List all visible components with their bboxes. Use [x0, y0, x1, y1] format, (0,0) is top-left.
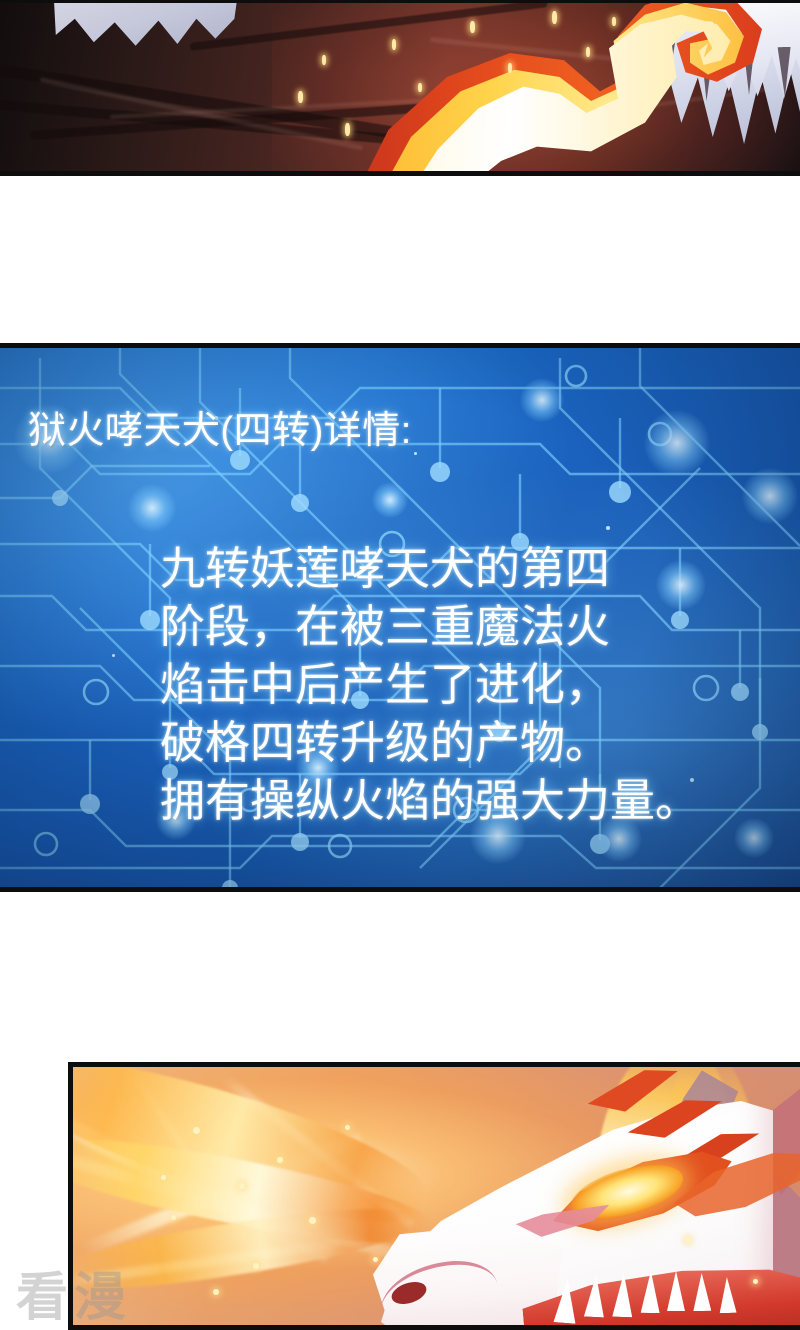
fire-spark	[309, 1217, 316, 1224]
ember-spark	[470, 21, 475, 33]
skill-detail-title: 狱火哮天犬(四转)详情:	[28, 408, 412, 454]
fire-spark	[753, 1279, 758, 1284]
fire-spark	[171, 1215, 176, 1220]
ember-spark	[612, 17, 616, 26]
panel-top-dark-ground	[0, 0, 800, 176]
fire-wolf-head	[373, 1073, 800, 1330]
ember-spark	[322, 55, 326, 65]
flame-ribbon	[330, 0, 780, 176]
ember-spark	[586, 47, 590, 57]
fire-spark	[685, 1237, 691, 1243]
fire-spark	[213, 1289, 219, 1295]
fire-spark	[193, 1127, 200, 1134]
flame-marking	[586, 1068, 681, 1114]
fire-spark	[239, 1183, 245, 1189]
description-line: 拥有操纵火焰的强大力量。	[160, 772, 660, 830]
fire-spark	[253, 1263, 259, 1269]
description-line: 九转妖莲哮天犬的第四	[160, 540, 660, 598]
description-line: 破格四转升级的产物。	[160, 714, 660, 772]
fire-spark	[277, 1157, 283, 1163]
skill-description-text: 九转妖莲哮天犬的第四 阶段，在被三重魔法火 焰击中后产生了进化， 破格四转升级的…	[160, 540, 660, 830]
description-line: 阶段，在被三重魔法火	[160, 598, 660, 656]
ember-spark	[418, 83, 422, 92]
fire-spark	[345, 1125, 350, 1130]
description-line: 焰击中后产生了进化，	[160, 656, 660, 714]
ember-spark	[345, 123, 350, 136]
comic-page: 狱火哮天犬(四转)详情: 九转妖莲哮天犬的第四 阶段，在被三重魔法火 焰击中后产…	[0, 0, 800, 1330]
ember-spark	[298, 91, 303, 103]
panel-bottom-fire-wolf	[68, 1062, 800, 1330]
ember-spark	[392, 39, 396, 50]
ember-spark	[552, 11, 557, 24]
fire-spark	[161, 1175, 166, 1180]
ember-spark	[508, 63, 512, 73]
fire-spark	[373, 1257, 378, 1262]
